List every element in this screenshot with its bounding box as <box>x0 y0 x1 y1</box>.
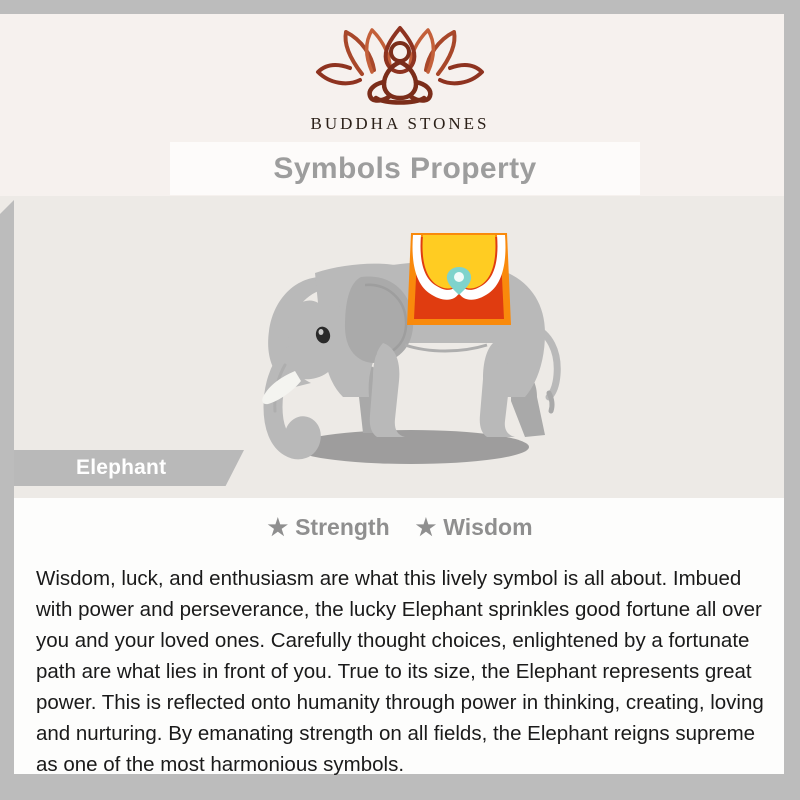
symbol-property-card: BUDDHA STONES Symbols Property <box>0 0 800 800</box>
symbol-name-tab: Elephant <box>14 450 244 486</box>
attributes-row: ★ Strength ★ Wisdom <box>0 514 800 541</box>
symbol-description: Wisdom, luck, and enthusiasm are what th… <box>36 563 776 780</box>
frame-edge-top <box>0 0 800 14</box>
brand-logo: BUDDHA STONES <box>0 22 800 134</box>
title-banner: Symbols Property <box>170 142 640 195</box>
attribute-label: Strength <box>295 514 390 541</box>
frame-edge-left <box>0 200 14 775</box>
page-title: Symbols Property <box>273 152 536 186</box>
attribute-strength: ★ Strength <box>267 514 389 541</box>
star-icon: ★ <box>416 516 437 539</box>
symbol-name: Elephant <box>76 456 166 480</box>
elephant-illustration-icon <box>215 215 595 470</box>
attribute-label: Wisdom <box>443 514 532 541</box>
lotus-meditation-logo-icon <box>310 22 490 110</box>
star-icon: ★ <box>267 516 288 539</box>
attribute-wisdom: ★ Wisdom <box>416 514 533 541</box>
brand-name: BUDDHA STONES <box>0 114 800 134</box>
